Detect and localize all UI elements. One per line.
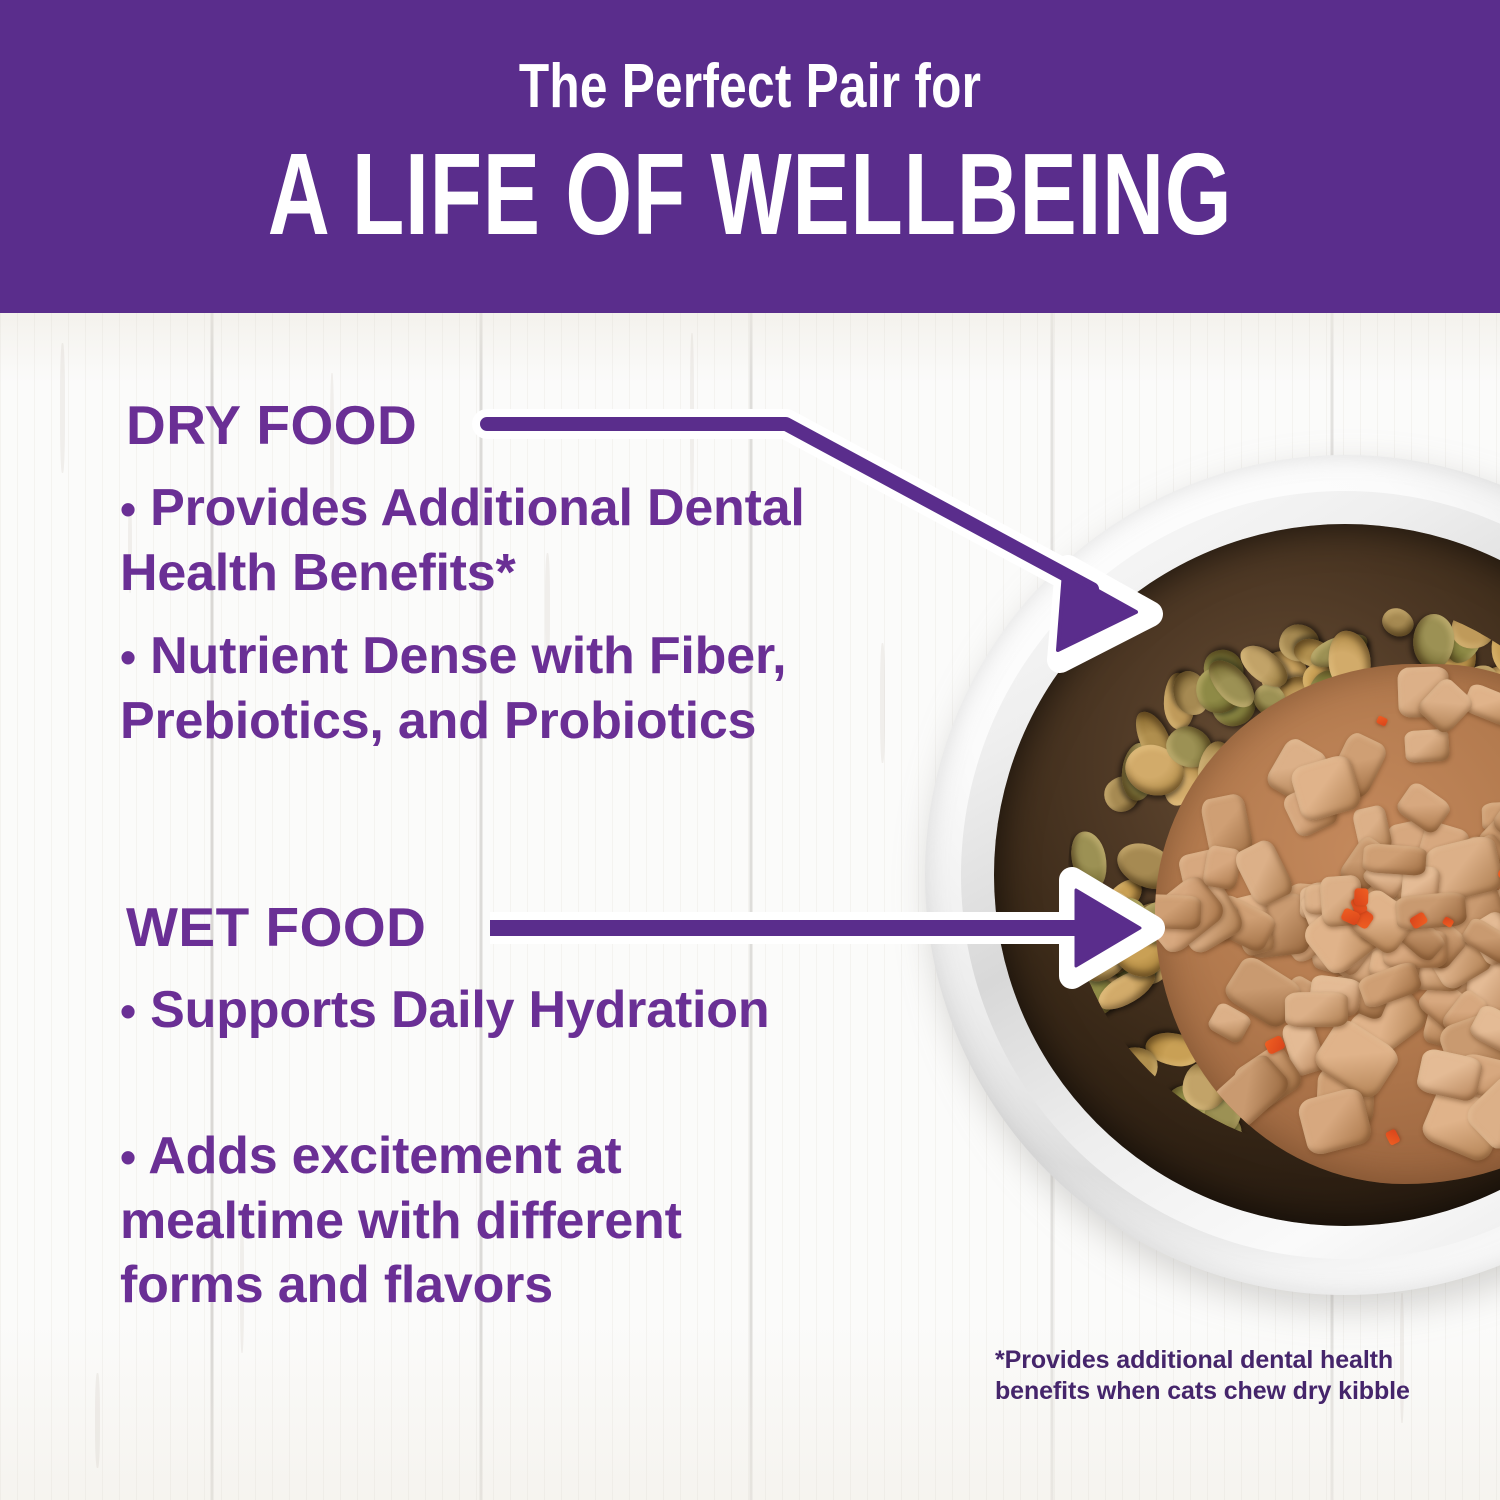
bullet-dry-2: • Nutrient Dense with Fiber, Prebiotics,… <box>120 624 820 753</box>
wet-food-chunk <box>1394 891 1467 931</box>
bullet-dry-1: • Provides Additional Dental Health Bene… <box>120 476 820 605</box>
section-heading-wet-food: WET FOOD <box>126 898 426 956</box>
bullet-dot-icon: • <box>120 483 136 535</box>
poster-root: DRY FOOD • Provides Additional Dental He… <box>0 0 1500 1500</box>
page-title: A LIFE OF WELLBEING <box>195 132 1305 256</box>
wet-food-chunk <box>1404 729 1450 763</box>
kibble-piece <box>1068 828 1112 892</box>
wet-food-chunk <box>1363 843 1428 876</box>
bullet-wet-2: • Adds excitement at mealtime with diffe… <box>120 1124 820 1317</box>
pet-food-bowl <box>925 455 1500 1295</box>
bullet-dot-icon: • <box>120 631 136 683</box>
bullet-wet-1: • Supports Daily Hydration <box>120 978 820 1043</box>
vegetable-bit <box>1355 888 1369 905</box>
bullet-dot-icon: • <box>120 1131 136 1183</box>
kibble-piece <box>1378 603 1418 641</box>
vegetable-bit <box>1385 1129 1401 1146</box>
wet-food-chunk <box>1285 992 1349 1028</box>
bullet-dry-2-text: Nutrient Dense with Fiber, Prebiotics, a… <box>120 627 786 750</box>
bullet-dry-1-text: Provides Additional Dental Health Benefi… <box>120 479 805 602</box>
footnote-dental-disclaimer: *Provides additional dental health benef… <box>995 1345 1415 1407</box>
bullet-wet-2-text: Adds excitement at mealtime with differe… <box>120 1127 682 1314</box>
vegetable-bit <box>1375 716 1388 728</box>
section-heading-dry-food: DRY FOOD <box>126 396 417 454</box>
wet-food-chunk <box>1296 1086 1374 1158</box>
header-eyebrow: The Perfect Pair for <box>150 52 1350 122</box>
wet-food-chunk <box>1155 894 1202 930</box>
bullet-wet-1-text: Supports Daily Hydration <box>150 981 769 1039</box>
bullet-dot-icon: • <box>120 985 136 1037</box>
wet-food-chunk <box>1202 845 1242 891</box>
header-band: The Perfect Pair for A LIFE OF WELLBEING <box>0 0 1500 313</box>
